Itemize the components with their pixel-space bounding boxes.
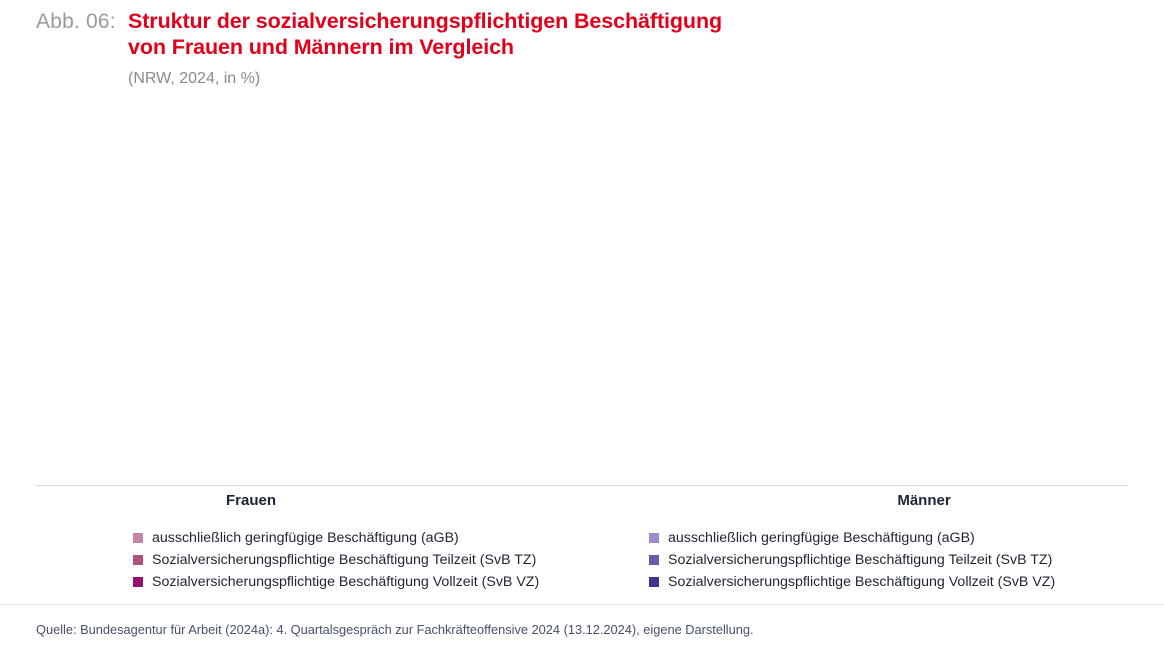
category-label-frauen: Frauen	[134, 492, 368, 509]
legend-item-label: ausschließlich geringfügige Beschäftigun…	[668, 529, 975, 547]
legend-item[interactable]: Sozialversicherungspflichtige Beschäftig…	[133, 572, 539, 592]
legend-item-label: Sozialversicherungspflichtige Beschäftig…	[668, 551, 1052, 569]
legend-item-label: Sozialversicherungspflichtige Beschäftig…	[668, 573, 1055, 591]
bar-group-maenner: 9,511,878,6	[806, 117, 1042, 485]
legend-item-label: Sozialversicherungspflichtige Beschäftig…	[152, 551, 536, 569]
source-note: Quelle: Bundesagentur für Arbeit (2024a)…	[36, 622, 754, 637]
legend-swatch-icon	[649, 577, 659, 587]
legend-swatch-icon	[133, 555, 143, 565]
legend-item[interactable]: Sozialversicherungspflichtige Beschäftig…	[133, 550, 539, 570]
legend-item[interactable]: Sozialversicherungspflichtige Beschäftig…	[649, 572, 1055, 592]
chart-plot-area: 15,441,543,1 9,511,878,6 Frauen Männer a…	[0, 0, 1164, 662]
legend-frauen: ausschließlich geringfügige Beschäftigun…	[133, 528, 539, 594]
legend-swatch-icon	[133, 577, 143, 587]
legend-swatch-icon	[649, 555, 659, 565]
legend-swatch-icon	[133, 533, 143, 543]
legend-item[interactable]: ausschließlich geringfügige Beschäftigun…	[133, 528, 539, 548]
legend-swatch-icon	[649, 533, 659, 543]
x-axis-line	[36, 485, 1128, 486]
legend-item[interactable]: ausschließlich geringfügige Beschäftigun…	[649, 528, 1055, 548]
footer-divider	[0, 604, 1164, 605]
category-label-maenner: Männer	[806, 492, 1042, 509]
legend-item-label: Sozialversicherungspflichtige Beschäftig…	[152, 573, 539, 591]
legend-item-label: ausschließlich geringfügige Beschäftigun…	[152, 529, 459, 547]
legend-item[interactable]: Sozialversicherungspflichtige Beschäftig…	[649, 550, 1055, 570]
legend-maenner: ausschließlich geringfügige Beschäftigun…	[649, 528, 1055, 594]
bar-group-frauen: 15,441,543,1	[134, 117, 368, 485]
